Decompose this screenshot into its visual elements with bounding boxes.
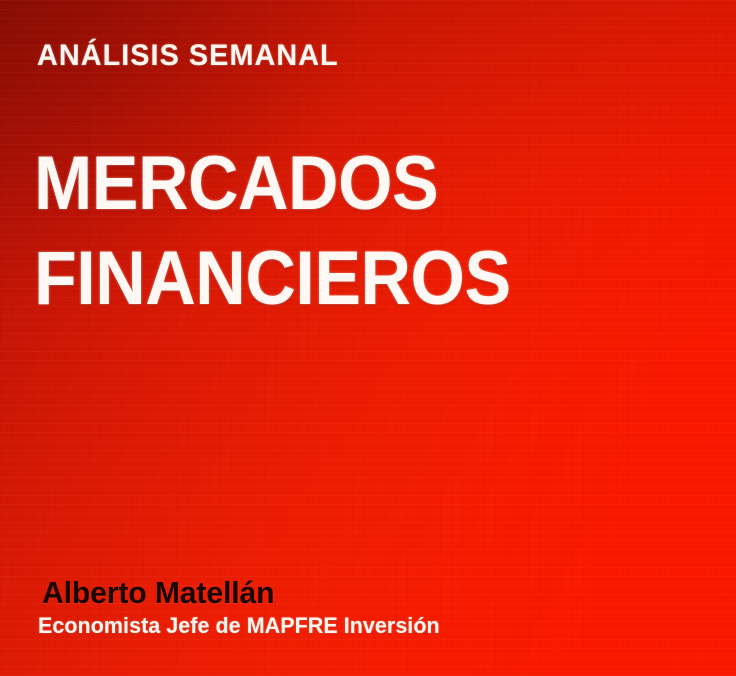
page-title-line-1: MERCADOS	[34, 136, 511, 231]
title-card-content: ANÁLISIS SEMANAL MERCADOS FINANCIEROS Al…	[0, 0, 736, 676]
byline-name: Alberto Matellán	[42, 577, 446, 609]
byline: Alberto Matellán Economista Jefe de MAPF…	[42, 577, 459, 638]
eyebrow-label: ANÁLISIS SEMANAL	[37, 41, 339, 71]
page-title-line-2: FINANCIEROS	[34, 231, 511, 326]
page-title: MERCADOS FINANCIEROS	[34, 136, 552, 326]
analisis-semanal-title-card: ANÁLISIS SEMANAL MERCADOS FINANCIEROS Al…	[0, 0, 736, 676]
byline-role: Economista Jefe de MAPFRE Inversión	[38, 614, 440, 638]
